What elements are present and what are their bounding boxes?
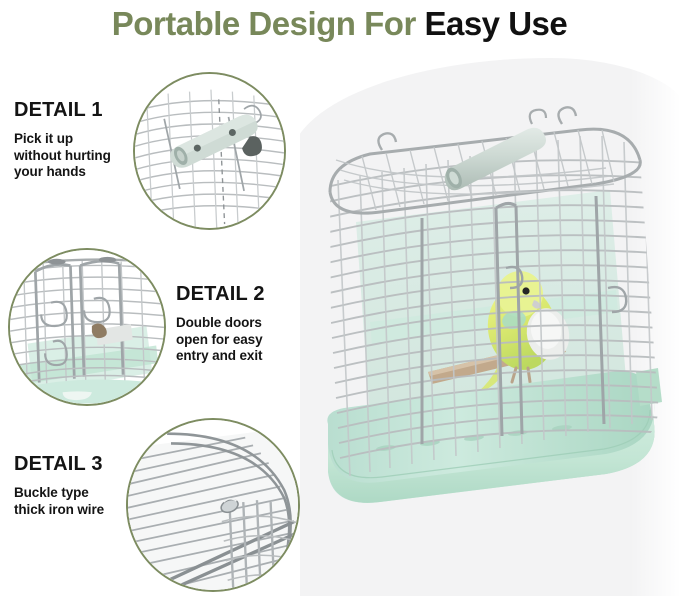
detail-1-line-1: Pick it up [14, 131, 139, 148]
cage-wire-buckle-closeup-icon [128, 420, 298, 590]
page-title-green-part: Portable Design For [112, 5, 416, 42]
detail-3-text: DETAIL 3 Buckle type thick iron wire [14, 452, 144, 518]
detail-2-line-1: Double doors [176, 315, 301, 332]
detail-1-line-3: your hands [14, 164, 139, 181]
detail-2-line-2: open for easy [176, 332, 301, 349]
detail-3-body: Buckle type thick iron wire [14, 485, 144, 518]
detail-1-callout-circle [133, 72, 286, 230]
detail-2-callout-circle [8, 248, 166, 406]
product-photo [300, 52, 679, 596]
detail-3-line-1: Buckle type [14, 485, 144, 502]
cage-double-doors-closeup-icon [10, 250, 164, 404]
page-title-black-part: Easy Use [424, 5, 567, 42]
detail-2-line-3: entry and exit [176, 348, 301, 365]
detail-2-text: DETAIL 2 Double doors open for easy entr… [176, 282, 301, 365]
page-title: Portable Design For Easy Use [0, 2, 679, 46]
cage-carry-handle [443, 110, 546, 191]
detail-1-line-2: without hurting [14, 148, 139, 165]
detail-2-body: Double doors open for easy entry and exi… [176, 315, 301, 365]
detail-1-heading: DETAIL 1 [14, 98, 139, 122]
bird-cage-svg [310, 72, 670, 552]
detail-3-callout-circle [126, 418, 300, 592]
detail-3-heading: DETAIL 3 [14, 452, 144, 476]
detail-3-line-2: thick iron wire [14, 502, 144, 519]
infographic-page: Portable Design For Easy Use [0, 0, 679, 596]
cage-top-handle-closeup-icon [135, 74, 284, 228]
bird-cage-illustration [310, 72, 670, 552]
detail-1-text: DETAIL 1 Pick it up without hurting your… [14, 98, 139, 181]
detail-1-body: Pick it up without hurting your hands [14, 131, 139, 181]
detail-2-heading: DETAIL 2 [176, 282, 301, 306]
